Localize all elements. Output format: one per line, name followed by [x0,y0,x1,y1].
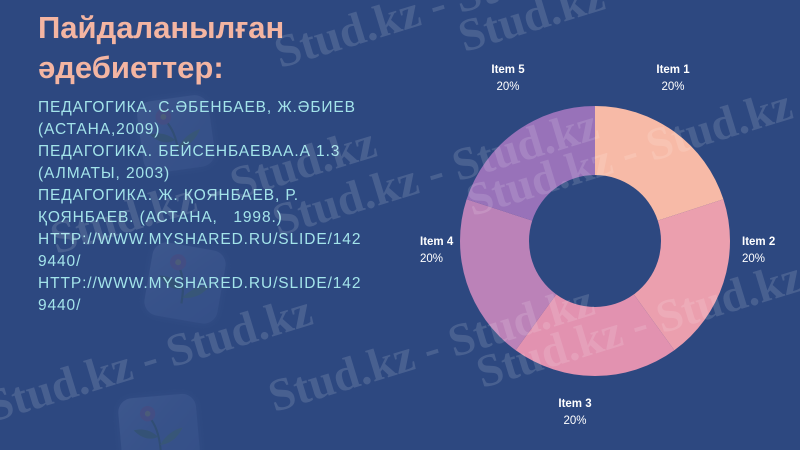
plant-icon [117,393,201,450]
slice-label-name-2: Item 2 [742,236,775,248]
reference-item: ПЕДАГОГИКА. БЕЙСЕНБАЕВАА.А 1.3 (АЛМАТЫ, … [38,141,368,185]
reference-item: HTTP://WWW.MYSHARED.RU/SLIDE/1429440/ [38,229,368,273]
flower-photo-bottom [117,393,201,450]
donut-chart: Item 120%Item 220%Item 320%Item 420%Item… [420,45,790,435]
pie-slice-5[interactable] [467,106,595,221]
slice-label-percent-1: 20% [661,81,684,93]
page-title: Пайдаланылған әдебиеттер: [38,8,368,87]
slice-label-name-4: Item 4 [420,236,454,248]
donut-chart-svg: Item 120%Item 220%Item 320%Item 420%Item… [420,45,790,435]
slice-label-percent-3: 20% [563,415,586,427]
slice-label-percent-5: 20% [496,81,519,93]
reference-item: ПЕДАГОГИКА. Ж. ҚОЯНБАЕВ, Р. ҚОЯНБАЕВ. (А… [38,185,368,229]
slice-label-name-3: Item 3 [558,398,591,410]
slice-label-name-1: Item 1 [656,64,690,76]
slice-label-name-5: Item 5 [491,64,525,76]
slice-label-percent-2: 20% [742,253,765,265]
references-list: ПЕДАГОГИКА. С.ӘБЕНБАЕВ, Ж.ӘБИЕВ (АСТАНА,… [38,97,368,317]
slice-label-percent-4: 20% [420,253,443,265]
reference-item: ПЕДАГОГИКА. С.ӘБЕНБАЕВ, Ж.ӘБИЕВ (АСТАНА,… [38,97,368,141]
slide-canvas: Пайдаланылған әдебиеттер: ПЕДАГОГИКА. С.… [0,0,800,450]
content-text-column: Пайдаланылған әдебиеттер: ПЕДАГОГИКА. С.… [38,8,368,317]
reference-item: HTTP://WWW.MYSHARED.RU/SLIDE/1429440/ [38,273,368,317]
pie-slice-1[interactable] [595,106,723,221]
